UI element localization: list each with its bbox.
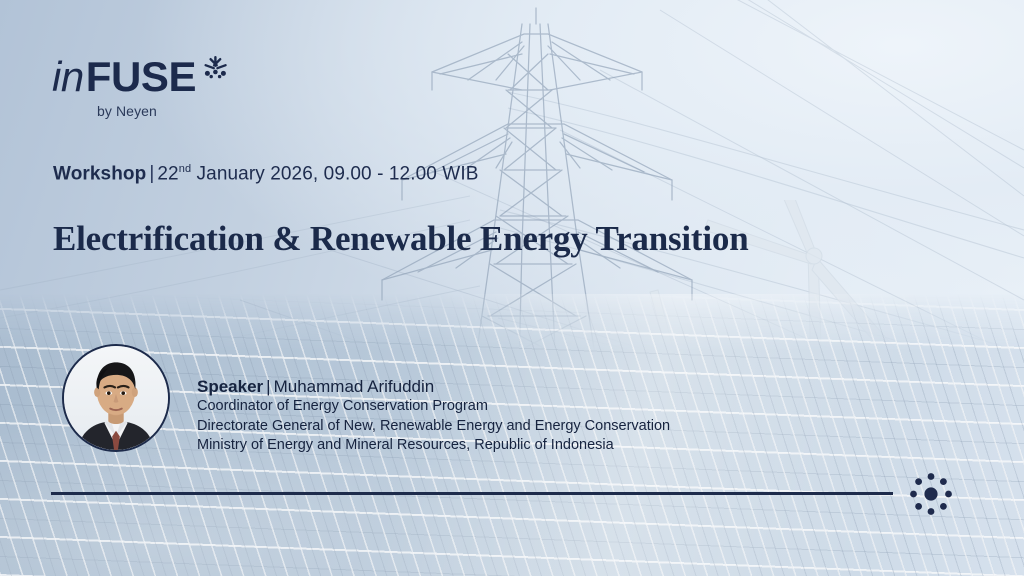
eyebrow-separator: | — [146, 163, 157, 184]
event-day: 22 — [157, 163, 178, 184]
speaker-block: Speaker|Muhammad Arifuddin Coordinator o… — [62, 344, 670, 455]
starburst-asterisk-icon — [201, 56, 231, 86]
dot-cluster-decoration — [903, 466, 959, 522]
logo-wordmark: in FUSE — [52, 56, 231, 98]
logo-text-in: in — [52, 56, 84, 98]
speaker-avatar — [62, 344, 170, 452]
event-date-line: Workshop|22nd January 2026, 09.00 - 12.0… — [53, 163, 479, 185]
speaker-label: Speaker — [197, 377, 263, 396]
speaker-name-line: Speaker|Muhammad Arifuddin — [197, 376, 670, 397]
logo-tagline: by Neyen — [97, 103, 231, 119]
event-kind-label: Workshop — [53, 163, 146, 184]
event-title: Electrification & Renewable Energy Trans… — [53, 219, 748, 258]
logo-text-fuse: FUSE — [86, 56, 196, 98]
speaker-role-line-3: Ministry of Energy and Mineral Resources… — [197, 436, 670, 455]
speaker-role-line-1: Coordinator of Energy Conservation Progr… — [197, 397, 670, 416]
event-datetime: January 2026, 09.00 - 12.00 WIB — [191, 163, 478, 184]
speaker-role-line-2: Directorate General of New, Renewable En… — [197, 417, 670, 436]
infuse-logo[interactable]: in FUSE by Neyen — [52, 56, 231, 119]
speaker-name: Muhammad Arifuddin — [274, 377, 435, 396]
speaker-portrait-illustration — [64, 346, 168, 450]
event-day-ordinal: nd — [179, 163, 191, 175]
footer-divider — [51, 492, 893, 495]
speaker-separator: | — [263, 377, 273, 396]
event-banner-slide: in FUSE by Neyen Workshop|22n — [0, 0, 1024, 576]
speaker-details: Speaker|Muhammad Arifuddin Coordinator o… — [197, 344, 670, 455]
